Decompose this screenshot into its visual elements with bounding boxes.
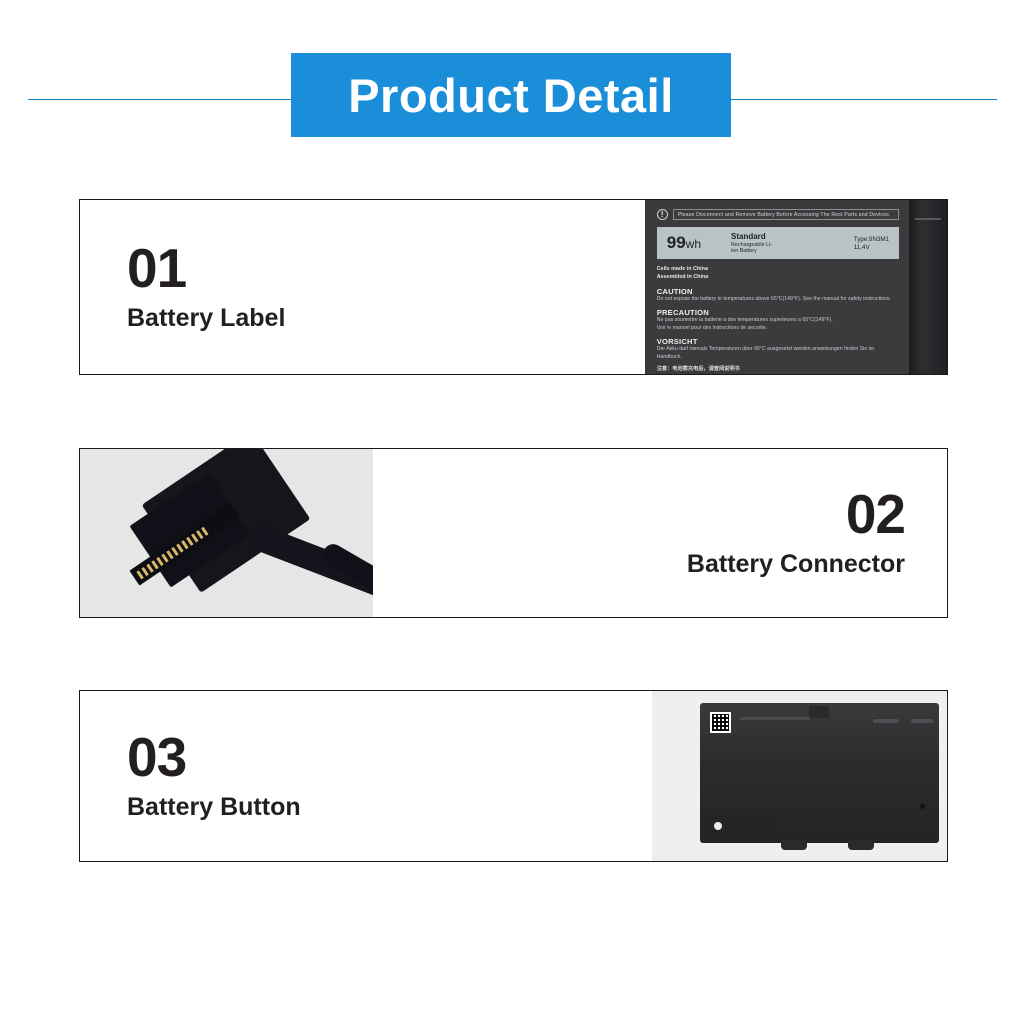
battery-body [700,703,939,843]
label-spec-band: 99wh Standard Rechargeable Li-ion Batter… [657,227,899,259]
label-standard-title: Standard [731,232,778,241]
detail-card-03: 03 Battery Button [79,690,948,862]
label-origin-2: Assembled in China [657,273,899,281]
battery-slot [911,719,933,723]
card-01-number: 01 [127,241,186,296]
battery-foot [781,840,807,850]
label-caution-title: CAUTION [657,287,899,296]
label-type-col: Type:9N3M1 11.4V [854,236,889,251]
header-rule-left [28,99,294,100]
label-cn-text-1: 注意：电池需充电后，请查阅说明书 [657,366,899,374]
card-03-text: 03 Battery Button [80,691,652,861]
label-precaution-text-2: Voir le manuel pour des instructions de … [657,325,899,333]
battery-mount-hole [714,822,722,830]
label-capacity-unit: wh [686,237,701,251]
label-vorsicht-text: Der Akku darf niemals Temperaturen über … [657,346,899,361]
label-voltage: 11.4V [854,244,889,251]
label-caution-text: Do not expose the battery to temperature… [657,296,899,304]
qr-code-icon [710,712,731,733]
battery-serial-strip [740,717,810,720]
card-02-label: Battery Connector [687,549,905,579]
label-warning-text: Please Disconnect and Remove Battery Bef… [673,209,899,220]
battery-slot [873,719,899,723]
card-03-label: Battery Button [127,792,301,822]
label-capacity: 99wh [667,233,701,253]
battery-button-photo [652,691,947,861]
label-warning-bar: ! Please Disconnect and Remove Battery B… [657,208,899,221]
header-banner: Product Detail [291,53,731,137]
label-origin-1: Cells made in China [657,265,899,273]
label-caution-section: CAUTION Do not expose the battery to tem… [657,287,899,304]
battery-top-nub [809,706,829,718]
label-type: Type:9N3M1 [854,236,889,243]
battery-button [920,804,925,809]
page-title: Product Detail [348,72,674,119]
battery-mount-tab [704,816,778,835]
detail-card-01: 01 Battery Label ! Please Disconnect and… [79,199,948,375]
card-02-text: 02 Battery Connector [373,449,947,617]
page-header: Product Detail [0,0,1024,160]
label-standard-col: Standard Rechargeable Li-ion Battery [731,232,778,254]
battery-edge [909,200,947,374]
battery-connector-photo [80,449,373,617]
card-02-number: 02 [846,487,905,542]
product-detail-page: Product Detail 01 Battery Label ! Please… [0,0,1024,1024]
card-01-text: 01 Battery Label [80,200,645,374]
detail-card-02: 02 Battery Connector [79,448,948,618]
battery-label-photo: ! Please Disconnect and Remove Battery B… [645,200,947,374]
battery-foot [848,840,874,850]
card-01-label: Battery Label [127,303,285,333]
header-rule-right [728,99,997,100]
label-capacity-value: 99 [667,233,686,252]
label-precaution-title: PRECAUTION [657,308,899,317]
label-precaution-text-1: Ne pas soumettre la batterie a des tempe… [657,317,899,325]
label-precaution-section: PRECAUTION Ne pas soumettre la batterie … [657,308,899,332]
card-03-number: 03 [127,730,186,785]
label-standard-sub: Rechargeable Li-ion Battery [731,242,778,254]
label-vorsicht-section: VORSICHT Der Akku darf niemals Temperatu… [657,337,899,361]
warning-icon: ! [657,209,668,220]
label-vorsicht-title: VORSICHT [657,337,899,346]
